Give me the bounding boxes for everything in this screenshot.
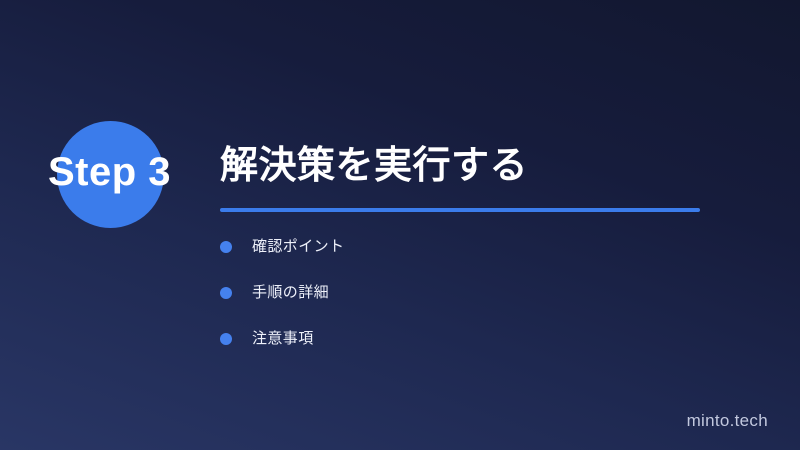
heading-block: 解決策を実行する <box>220 140 720 212</box>
bullet-list: 確認ポイント 手順の詳細 注意事項 <box>220 233 680 371</box>
page-title: 解決策を実行する <box>220 140 720 192</box>
bullet-dot-icon <box>220 241 232 253</box>
title-divider <box>220 208 700 212</box>
bullet-dot-icon <box>220 333 232 345</box>
bullet-dot-icon <box>220 287 232 299</box>
list-item-label: 確認ポイント <box>252 236 344 258</box>
list-item-label: 注意事項 <box>252 328 314 350</box>
list-item: 注意事項 <box>220 325 680 353</box>
list-item: 手順の詳細 <box>220 279 680 307</box>
step-badge-label: Step 3 <box>48 148 218 196</box>
list-item-label: 手順の詳細 <box>252 282 329 304</box>
watermark-label: minto.tech <box>687 410 768 432</box>
list-item: 確認ポイント <box>220 233 680 261</box>
slide-canvas: Step 3 解決策を実行する 確認ポイント 手順の詳細 注意事項 minto.… <box>0 0 800 450</box>
